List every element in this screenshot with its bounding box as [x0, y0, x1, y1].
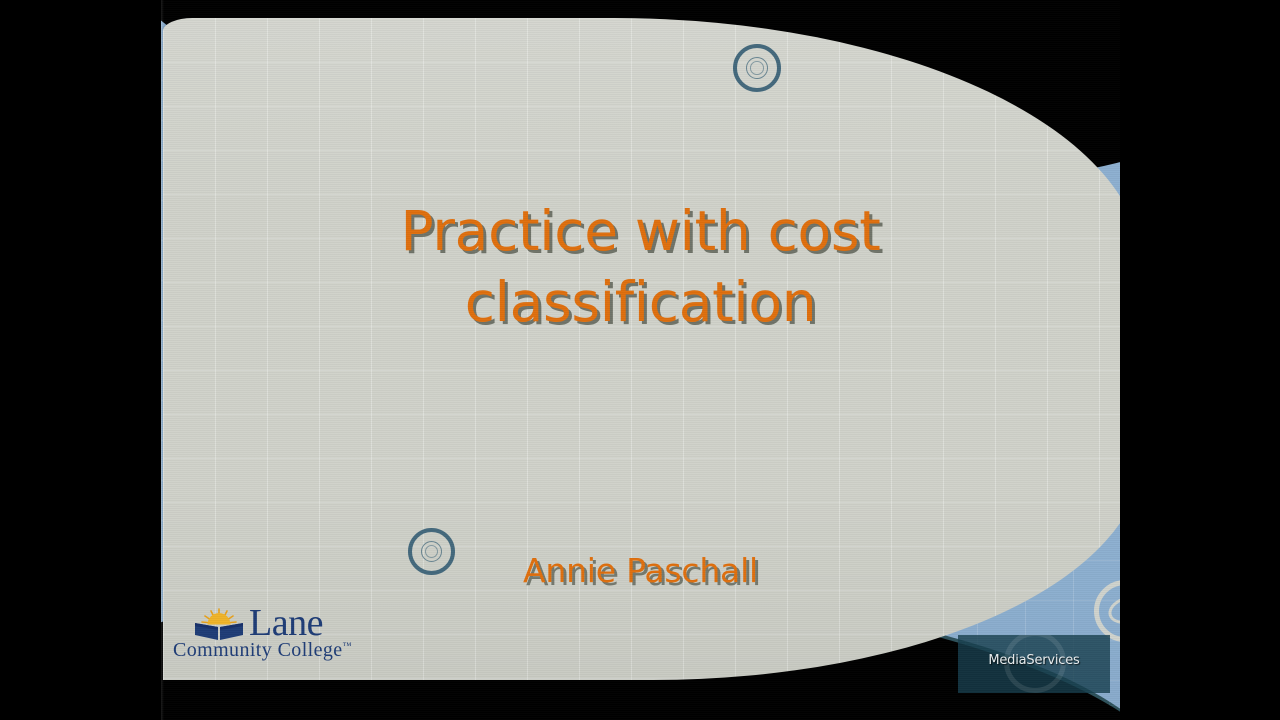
logo-wordmark: Lane: [249, 605, 323, 641]
letterbox-bar-left: [0, 0, 161, 720]
presentation-slide: Practice with cost classification Annie …: [161, 0, 1120, 720]
open-book-sunrise-icon: [193, 607, 245, 641]
media-services-watermark: MediaServices: [958, 635, 1110, 693]
video-frame: Practice with cost classification Annie …: [0, 0, 1280, 720]
logo-tagline: Community College™: [171, 639, 381, 662]
media-services-label: MediaServices: [958, 653, 1110, 668]
subtitle-block: Annie Paschall: [161, 551, 1120, 590]
letterbox-bar-right: [1120, 0, 1280, 720]
page-title-line-2: classification: [465, 270, 817, 334]
title-block: Practice with cost classification: [161, 196, 1120, 338]
logo-tagline-text: Community College: [173, 639, 343, 661]
page-title-line-1: Practice with cost: [400, 199, 880, 263]
logo-row: Lane: [171, 605, 381, 641]
page-title: Practice with cost classification: [161, 196, 1120, 338]
ring-top-center: [733, 44, 781, 92]
presenter-name: Annie Paschall: [161, 551, 1120, 590]
lane-community-college-logo: Lane Community College™: [171, 605, 381, 662]
logo-trademark: ™: [343, 640, 352, 650]
